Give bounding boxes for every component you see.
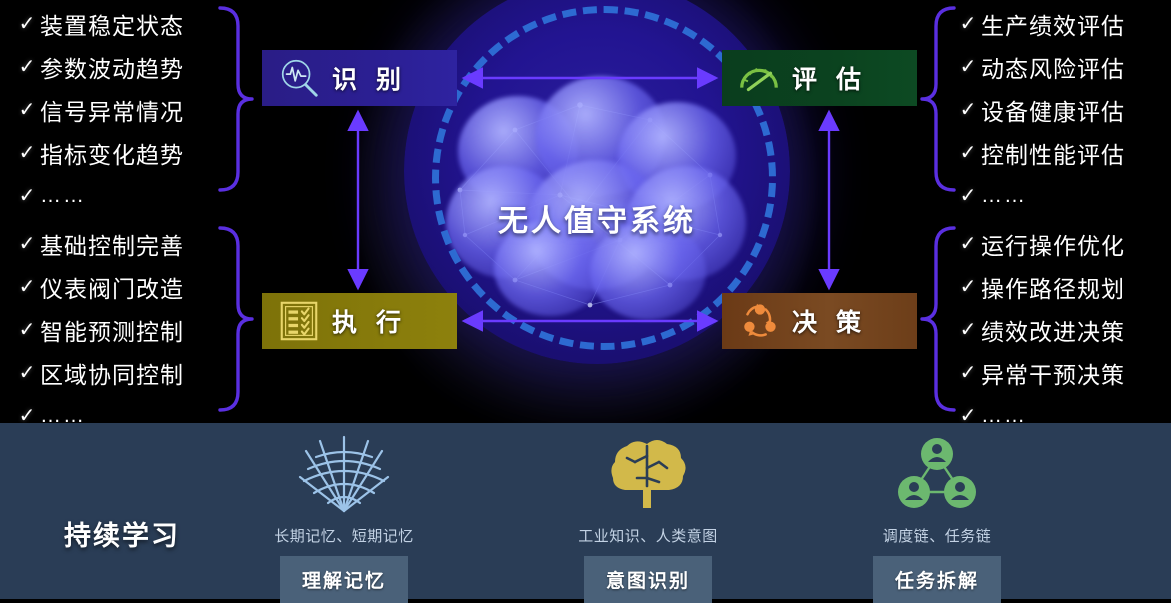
bottom-bar-title: 持续学习 bbox=[64, 514, 180, 553]
check-icon: ✓ bbox=[14, 274, 40, 299]
memory-understanding-button[interactable]: 理解记忆 bbox=[280, 556, 408, 603]
list-item: ✓生产绩效评估 bbox=[955, 2, 1165, 45]
list-item: ✓装置稳定状态 bbox=[14, 2, 224, 45]
gauge-icon bbox=[736, 55, 782, 101]
check-icon: ✓ bbox=[14, 317, 40, 342]
node-label: 执 行 bbox=[332, 303, 407, 339]
brace-bottom-right bbox=[920, 224, 960, 414]
column-caption: 长期记忆、短期记忆 bbox=[229, 525, 459, 546]
list-item: ✓仪表阀门改造 bbox=[14, 265, 224, 308]
check-icon: ✓ bbox=[14, 11, 40, 36]
list-item: ✓信号异常情况 bbox=[14, 88, 224, 131]
list-item: ✓区域协同控制 bbox=[14, 351, 224, 394]
list-item: ✓控制性能评估 bbox=[955, 131, 1165, 174]
cycle-nodes-icon bbox=[736, 298, 782, 344]
brace-top-right bbox=[920, 4, 960, 194]
magnifier-waveform-icon bbox=[276, 55, 322, 101]
column-caption: 调度链、任务链 bbox=[822, 525, 1052, 546]
list-item: ✓设备健康评估 bbox=[955, 88, 1165, 131]
learning-column-task: 调度链、任务链 任务拆解 bbox=[822, 435, 1052, 603]
list-item: ✓运行操作优化 bbox=[955, 222, 1165, 265]
node-label: 决 策 bbox=[792, 303, 867, 339]
list-top-right: ✓生产绩效评估 ✓动态风险评估 ✓设备健康评估 ✓控制性能评估 ✓…… bbox=[955, 2, 1165, 217]
learning-column-memory: 长期记忆、短期记忆 理解记忆 bbox=[229, 435, 459, 603]
list-item: ✓动态风险评估 bbox=[955, 45, 1165, 88]
brace-bottom-left bbox=[214, 224, 254, 414]
intent-recognition-button[interactable]: 意图识别 bbox=[584, 556, 712, 603]
node-box-evaluation[interactable]: 评 估 bbox=[722, 50, 917, 106]
check-icon: ✓ bbox=[14, 140, 40, 165]
list-item: ✓基础控制完善 bbox=[14, 222, 224, 265]
node-box-decision[interactable]: 决 策 bbox=[722, 293, 917, 349]
list-item: ✓智能预测控制 bbox=[14, 308, 224, 351]
node-box-recognition[interactable]: 识 别 bbox=[262, 50, 457, 106]
check-icon: ✓ bbox=[14, 54, 40, 79]
brace-top-left bbox=[214, 4, 254, 194]
node-label: 识 别 bbox=[332, 60, 407, 96]
column-caption: 工业知识、人类意图 bbox=[533, 525, 763, 546]
list-item: ✓操作路径规划 bbox=[955, 265, 1165, 308]
list-item: ✓…… bbox=[14, 174, 224, 217]
list-item: ✓…… bbox=[955, 174, 1165, 217]
list-top-left: ✓装置稳定状态 ✓参数波动趋势 ✓信号异常情况 ✓指标变化趋势 ✓…… bbox=[14, 2, 224, 217]
check-icon: ✓ bbox=[14, 183, 40, 208]
list-item: ✓参数波动趋势 bbox=[14, 45, 224, 88]
list-bottom-right: ✓运行操作优化 ✓操作路径规划 ✓绩效改进决策 ✓异常干预决策 ✓…… bbox=[955, 222, 1165, 437]
list-item: ✓异常干预决策 bbox=[955, 351, 1165, 394]
checklist-icon bbox=[276, 298, 322, 344]
people-network-icon bbox=[822, 435, 1052, 513]
node-box-execution[interactable]: 执 行 bbox=[262, 293, 457, 349]
node-label: 评 估 bbox=[792, 60, 867, 96]
list-bottom-left: ✓基础控制完善 ✓仪表阀门改造 ✓智能预测控制 ✓区域协同控制 ✓…… bbox=[14, 222, 224, 437]
check-icon: ✓ bbox=[14, 231, 40, 256]
diagram-canvas: 无人值守系统 识 别 bbox=[0, 0, 1171, 599]
check-icon: ✓ bbox=[14, 360, 40, 385]
check-icon: ✓ bbox=[14, 97, 40, 122]
brain-icon bbox=[533, 435, 763, 513]
list-item: ✓指标变化趋势 bbox=[14, 131, 224, 174]
list-item: ✓绩效改进决策 bbox=[955, 308, 1165, 351]
task-decomposition-button[interactable]: 任务拆解 bbox=[873, 556, 1001, 603]
learning-column-intent: 工业知识、人类意图 意图识别 bbox=[533, 435, 763, 603]
spiderweb-icon bbox=[229, 435, 459, 513]
